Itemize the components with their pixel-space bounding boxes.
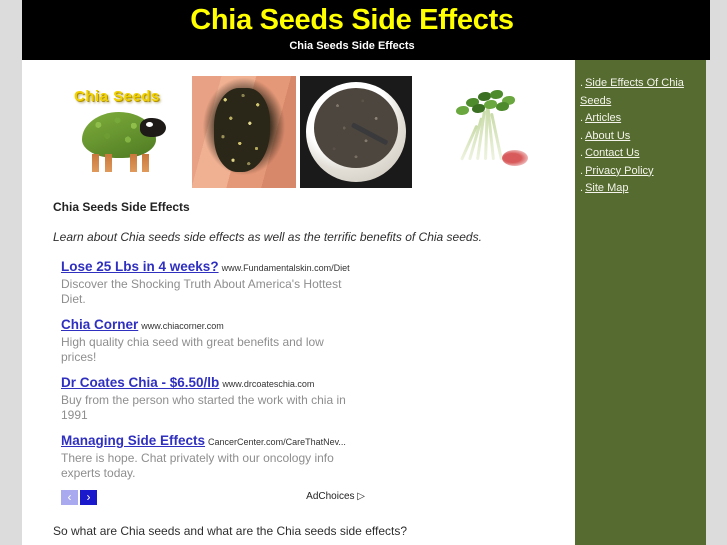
chia-pet-leg <box>130 154 137 172</box>
sidebar-item-contact-us[interactable]: .Contact Us <box>575 144 706 162</box>
article-body: Chia Seeds Side Effects Learn about Chia… <box>30 200 570 538</box>
chia-pet-head <box>140 118 166 137</box>
site-header: Chia Seeds Side Effects Chia Seeds Side … <box>22 0 710 60</box>
sidebar-item-about-us[interactable]: .About Us <box>575 127 706 145</box>
ad-title-link[interactable]: Lose 25 Lbs in 4 weeks? <box>61 259 219 274</box>
adchoices-link[interactable]: AdChoices ▷ <box>306 491 365 502</box>
ad-item: Lose 25 Lbs in 4 weeks?www.Fundamentalsk… <box>61 258 381 307</box>
sidebar-item-label[interactable]: Contact Us <box>585 147 639 159</box>
chia-sprouts-image <box>416 76 542 188</box>
bullet-icon: . <box>580 182 583 194</box>
banner-image-strip: Chia Seeds <box>62 76 542 192</box>
sidebar-item-site-map[interactable]: .Site Map <box>575 179 706 197</box>
sidebar-item-label[interactable]: Site Map <box>585 182 628 194</box>
ad-title-link[interactable]: Dr Coates Chia - $6.50/lb <box>61 375 219 390</box>
ad-url: www.drcoateschia.com <box>222 379 314 389</box>
main-content: Chia Seeds <box>22 60 575 545</box>
bullet-icon: . <box>580 77 583 89</box>
chia-pet-sheep-image: Chia Seeds <box>62 76 188 188</box>
intro-paragraph: Learn about Chia seeds side effects as w… <box>53 230 570 244</box>
chia-pet-eye <box>146 122 153 127</box>
ad-description: Buy from the person who started the work… <box>61 393 361 423</box>
section-heading: Chia Seeds Side Effects <box>53 200 570 214</box>
page-subtitle: Chia Seeds Side Effects <box>22 39 682 53</box>
sidebar-item-label[interactable]: Articles <box>585 112 621 124</box>
ad-item: Dr Coates Chia - $6.50/lbwww.drcoateschi… <box>61 374 381 423</box>
sidebar-item-label[interactable]: Privacy Policy <box>585 165 653 177</box>
ad-item: Chia Cornerwww.chiacorner.com High quali… <box>61 316 381 365</box>
sidebar-item-side-effects-of-chia-seeds[interactable]: .Side Effects Of Chia Seeds <box>575 74 706 109</box>
chia-pet-leg <box>92 154 99 172</box>
sidebar-item-label[interactable]: Side Effects Of Chia Seeds <box>580 77 684 107</box>
sprout-leaf <box>456 106 469 115</box>
sidebar-item-label[interactable]: About Us <box>585 130 630 142</box>
adchoices-triangle-icon: ▷ <box>357 491 365 502</box>
chia-pet-leg <box>142 154 149 172</box>
chia-pet-caption: Chia Seeds <box>74 88 160 105</box>
ad-description: Discover the Shocking Truth About Americ… <box>61 277 361 307</box>
ad-url: www.Fundamentalskin.com/Diet <box>222 263 350 273</box>
bullet-icon: . <box>580 130 583 142</box>
sprout-leaf <box>490 90 503 99</box>
ad-description: High quality chia seed with great benefi… <box>61 335 361 365</box>
adchoices-label: AdChoices <box>306 491 354 502</box>
ad-prev-arrow-icon[interactable]: ‹ <box>61 490 78 505</box>
nav-list: .Side Effects Of Chia Seeds .Articles .A… <box>575 60 706 197</box>
sidebar-navigation: .Side Effects Of Chia Seeds .Articles .A… <box>575 60 706 545</box>
sprout-leaf <box>496 102 509 111</box>
ad-navigation-footer: ‹ › AdChoices ▷ <box>61 490 371 510</box>
hands-holding-chia-seeds-image <box>192 76 296 188</box>
sidebar-item-privacy-policy[interactable]: .Privacy Policy <box>575 162 706 180</box>
ad-description: There is hope. Chat privately with our o… <box>61 451 361 481</box>
ad-title-link[interactable]: Chia Corner <box>61 317 138 332</box>
seed-pile <box>214 88 270 172</box>
page-title: Chia Seeds Side Effects <box>22 2 682 38</box>
ad-next-arrow-icon[interactable]: › <box>80 490 97 505</box>
bullet-icon: . <box>580 112 583 124</box>
closing-paragraph: So what are Chia seeds and what are the … <box>53 524 570 538</box>
chia-pet-leg <box>105 154 112 172</box>
sidebar-item-articles[interactable]: .Articles <box>575 109 706 127</box>
ad-url: www.chiacorner.com <box>141 321 224 331</box>
ad-item: Managing Side EffectsCancerCenter.com/Ca… <box>61 432 381 481</box>
advertisement-block: Lose 25 Lbs in 4 weeks?www.Fundamentalsk… <box>61 258 381 510</box>
ad-url: CancerCenter.com/CareThatNev... <box>208 437 346 447</box>
bowl-of-soaked-chia-seeds-image <box>300 76 412 188</box>
sprout-roots <box>502 150 528 166</box>
page-root: Chia Seeds Side Effects Chia Seeds Side … <box>0 0 727 545</box>
ad-title-link[interactable]: Managing Side Effects <box>61 433 205 448</box>
bullet-icon: . <box>580 165 583 177</box>
bullet-icon: . <box>580 147 583 159</box>
